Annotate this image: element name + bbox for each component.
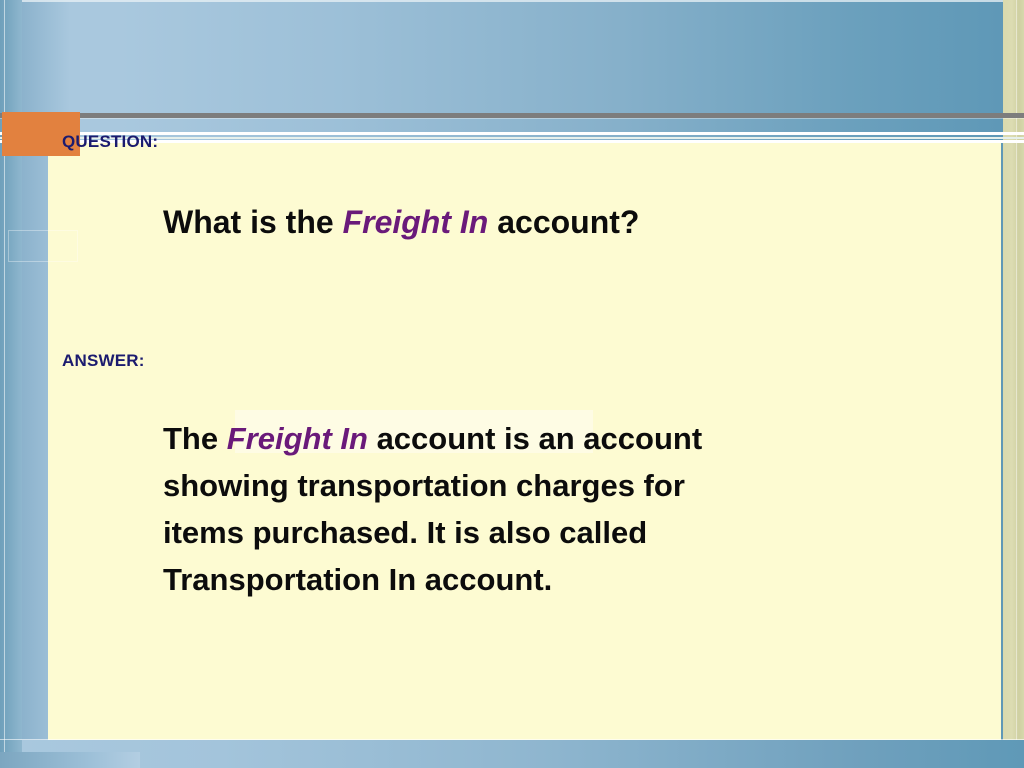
question-text: What is the Freight In account? [163, 203, 639, 241]
answer-line2: showing transportation charges for [163, 468, 685, 503]
answer-emphasis-freight-in: Freight In [227, 421, 368, 456]
header-gray-rule-highlight [0, 118, 1024, 119]
orange-accent-tab-inner-border [8, 230, 78, 262]
question-emphasis-freight-in: Freight In [343, 204, 489, 240]
answer-line4: Transportation In account. [163, 562, 552, 597]
answer-line3: items purchased. It is also called [163, 515, 647, 550]
slide-canvas: QUESTION: ANSWER: What is the Freight In… [0, 0, 1024, 768]
top-hairline [0, 0, 1024, 2]
answer-line1-after: account is an account [368, 421, 702, 456]
answer-line1-before: The [163, 421, 227, 456]
question-text-before: What is the [163, 204, 343, 240]
question-text-after: account? [488, 204, 639, 240]
bottom-left-corner-accent [0, 752, 140, 768]
answer-label: ANSWER: [62, 351, 145, 371]
question-label: QUESTION: [62, 132, 158, 152]
answer-text: The Freight In account is an account sho… [163, 415, 903, 603]
bottom-blue-band [22, 740, 1024, 768]
